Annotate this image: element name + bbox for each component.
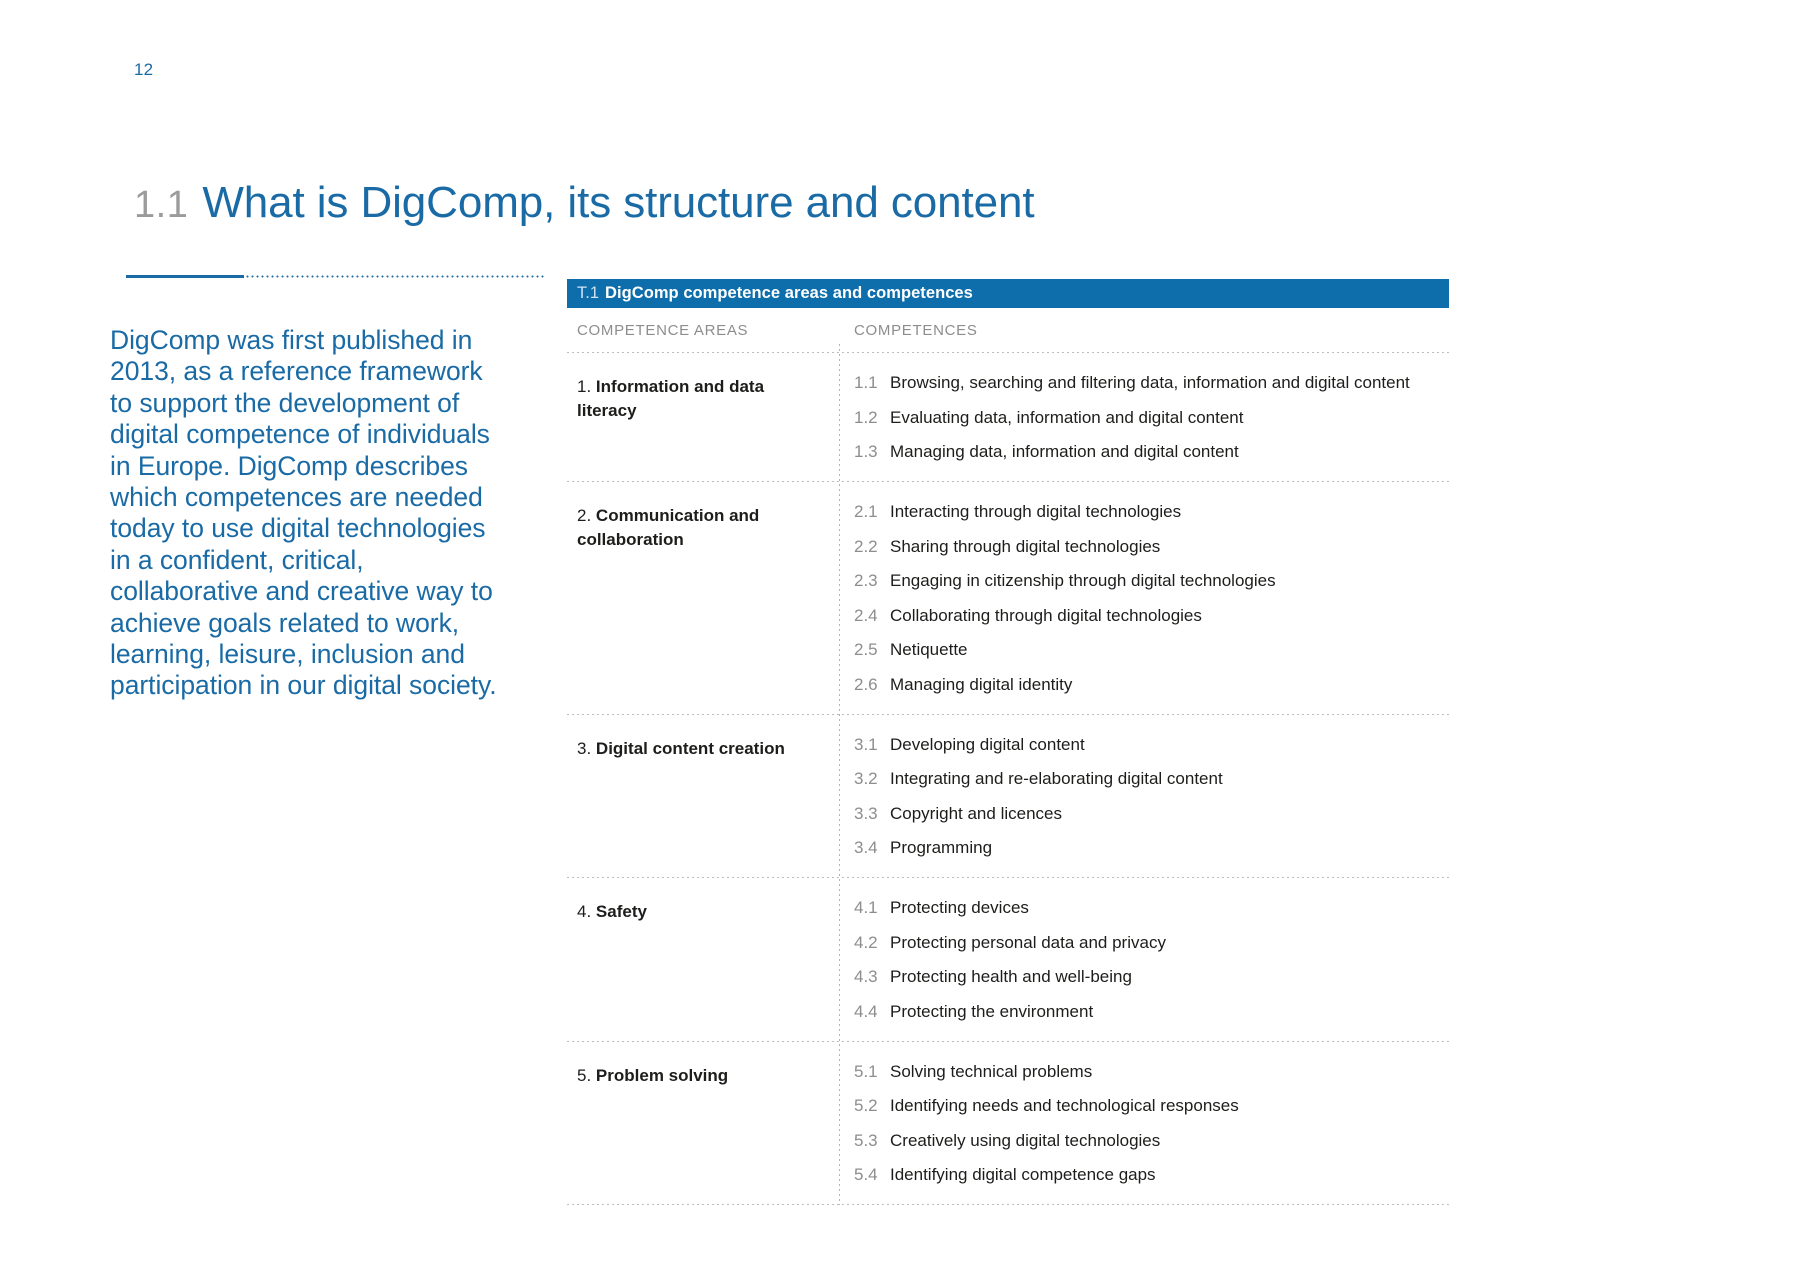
competence-item: 1.1 Browsing, searching and filtering da… (854, 372, 1439, 394)
competence-number: 5.3 (854, 1130, 890, 1152)
competence-item: 2.3 Engaging in citizenship through digi… (854, 570, 1439, 592)
competence-text: Creatively using digital technologies (890, 1130, 1160, 1152)
competence-item: 2.4 Collaborating through digital techno… (854, 605, 1439, 627)
competence-number: 4.2 (854, 932, 890, 954)
area-label: 3. Digital content creation (577, 737, 821, 761)
row-divider (567, 1204, 1449, 1205)
table-row: 1. Information and data literacy 1.1 Bro… (567, 353, 1449, 481)
page-title: 1.1 What is DigComp, its structure and c… (134, 178, 1034, 228)
heading-title-text: What is DigComp, its structure and conte… (202, 178, 1034, 228)
competences-cell: 2.1 Interacting through digital technolo… (839, 482, 1449, 714)
area-label: 5. Problem solving (577, 1064, 821, 1088)
competence-text: Collaborating through digital technologi… (890, 605, 1202, 627)
area-name: Communication and collaboration (577, 506, 759, 549)
competence-number: 3.3 (854, 803, 890, 825)
page-number: 12 (134, 60, 153, 80)
competence-item: 5.3 Creatively using digital technologie… (854, 1130, 1439, 1152)
column-header-areas: COMPETENCE AREAS (567, 322, 839, 339)
competence-number: 3.1 (854, 734, 890, 756)
competence-item: 3.1 Developing digital content (854, 734, 1439, 756)
area-label: 4. Safety (577, 900, 821, 924)
competence-text: Engaging in citizenship through digital … (890, 570, 1276, 592)
area-number: 5. (577, 1066, 591, 1085)
area-name: Information and data literacy (577, 377, 764, 420)
competences-cell: 5.1 Solving technical problems 5.2 Ident… (839, 1042, 1449, 1205)
competence-number: 5.1 (854, 1061, 890, 1083)
competence-text: Evaluating data, information and digital… (890, 407, 1243, 429)
area-cell: 2. Communication and collaboration (567, 482, 839, 714)
competence-item: 3.2 Integrating and re-elaborating digit… (854, 768, 1439, 790)
competence-text: Programming (890, 837, 992, 859)
competence-text: Identifying needs and technological resp… (890, 1095, 1239, 1117)
area-label: 1. Information and data literacy (577, 375, 821, 423)
competence-item: 2.1 Interacting through digital technolo… (854, 501, 1439, 523)
table-title-bar: T.1 DigComp competence areas and compete… (567, 279, 1449, 308)
area-name: Problem solving (596, 1066, 728, 1085)
area-number: 4. (577, 902, 591, 921)
competence-number: 2.6 (854, 674, 890, 696)
competence-item: 4.2 Protecting personal data and privacy (854, 932, 1439, 954)
competence-text: Protecting health and well-being (890, 966, 1132, 988)
competence-text: Managing digital identity (890, 674, 1072, 696)
competence-number: 1.2 (854, 407, 890, 429)
heading-section-number: 1.1 (134, 184, 188, 227)
table-label: T.1 (577, 284, 599, 303)
area-number: 3. (577, 739, 591, 758)
table-row: 3. Digital content creation 3.1 Developi… (567, 715, 1449, 878)
intro-paragraph: DigComp was first published in 2013, as … (110, 325, 510, 702)
competence-text: Solving technical problems (890, 1061, 1092, 1083)
competence-text: Identifying digital competence gaps (890, 1164, 1156, 1186)
competence-number: 4.3 (854, 966, 890, 988)
competence-number: 3.4 (854, 837, 890, 859)
competence-item: 4.4 Protecting the environment (854, 1001, 1439, 1023)
competence-number: 4.4 (854, 1001, 890, 1023)
table-row: 2. Communication and collaboration 2.1 I… (567, 482, 1449, 714)
competence-text: Netiquette (890, 639, 968, 661)
competence-number: 2.5 (854, 639, 890, 661)
competences-cell: 4.1 Protecting devices 4.2 Protecting pe… (839, 878, 1449, 1041)
table-title: DigComp competence areas and competences (605, 284, 973, 303)
competence-text: Developing digital content (890, 734, 1085, 756)
competence-text: Protecting the environment (890, 1001, 1093, 1023)
competence-item: 4.1 Protecting devices (854, 897, 1439, 919)
competence-item: 5.2 Identifying needs and technological … (854, 1095, 1439, 1117)
area-cell: 3. Digital content creation (567, 715, 839, 878)
area-name: Digital content creation (596, 739, 785, 758)
competence-item: 1.2 Evaluating data, information and dig… (854, 407, 1439, 429)
competence-item: 2.2 Sharing through digital technologies (854, 536, 1439, 558)
table-body: COMPETENCE AREAS COMPETENCES 1. Informat… (567, 308, 1449, 1205)
area-number: 2. (577, 506, 591, 525)
competence-number: 2.4 (854, 605, 890, 627)
competence-text: Copyright and licences (890, 803, 1062, 825)
competence-number: 2.3 (854, 570, 890, 592)
competence-item: 5.1 Solving technical problems (854, 1061, 1439, 1083)
table-row: 5. Problem solving 5.1 Solving technical… (567, 1042, 1449, 1205)
competence-number: 4.1 (854, 897, 890, 919)
competence-table: T.1 DigComp competence areas and compete… (567, 279, 1449, 1205)
competence-text: Sharing through digital technologies (890, 536, 1160, 558)
area-name: Safety (596, 902, 647, 921)
competence-number: 3.2 (854, 768, 890, 790)
competence-item: 3.3 Copyright and licences (854, 803, 1439, 825)
competence-number: 5.2 (854, 1095, 890, 1117)
competence-text: Protecting personal data and privacy (890, 932, 1166, 954)
competence-number: 1.3 (854, 441, 890, 463)
competences-cell: 1.1 Browsing, searching and filtering da… (839, 353, 1449, 481)
competence-item: 2.6 Managing digital identity (854, 674, 1439, 696)
competence-number: 5.4 (854, 1164, 890, 1186)
rule-dotted-segment (245, 275, 544, 278)
area-number: 1. (577, 377, 591, 396)
competence-text: Browsing, searching and filtering data, … (890, 372, 1410, 394)
competence-number: 2.2 (854, 536, 890, 558)
competence-text: Managing data, information and digital c… (890, 441, 1239, 463)
competence-text: Integrating and re-elaborating digital c… (890, 768, 1223, 790)
competence-text: Interacting through digital technologies (890, 501, 1181, 523)
competence-text: Protecting devices (890, 897, 1029, 919)
document-page: 12 1.1 What is DigComp, its structure an… (0, 0, 1800, 1273)
competence-item: 3.4 Programming (854, 837, 1439, 859)
competence-item: 1.3 Managing data, information and digit… (854, 441, 1439, 463)
decorative-rule (126, 273, 544, 279)
table-column-headers: COMPETENCE AREAS COMPETENCES (567, 308, 1449, 352)
area-cell: 5. Problem solving (567, 1042, 839, 1205)
area-cell: 1. Information and data literacy (567, 353, 839, 481)
competence-number: 2.1 (854, 501, 890, 523)
table-row: 4. Safety 4.1 Protecting devices 4.2 Pro… (567, 878, 1449, 1041)
rule-solid-segment (126, 275, 244, 278)
competences-cell: 3.1 Developing digital content 3.2 Integ… (839, 715, 1449, 878)
column-header-competences: COMPETENCES (839, 322, 1449, 339)
area-label: 2. Communication and collaboration (577, 504, 821, 552)
area-cell: 4. Safety (567, 878, 839, 1041)
competence-item: 4.3 Protecting health and well-being (854, 966, 1439, 988)
competence-item: 2.5 Netiquette (854, 639, 1439, 661)
competence-number: 1.1 (854, 372, 890, 394)
competence-item: 5.4 Identifying digital competence gaps (854, 1164, 1439, 1186)
